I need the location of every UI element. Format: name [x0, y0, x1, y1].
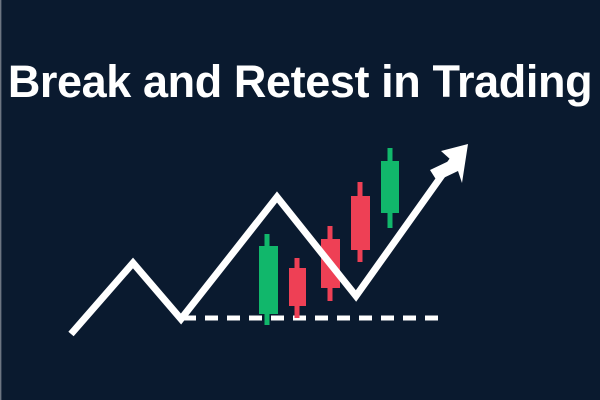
candle-2-bearish — [289, 258, 306, 318]
candle-5-bullish — [381, 148, 399, 228]
candle-2-body — [289, 268, 306, 306]
candle-1-bullish — [259, 234, 278, 325]
candle-5-body — [381, 161, 399, 213]
candle-1-body — [259, 246, 278, 314]
candlestick-chart-illustration — [0, 0, 600, 400]
infographic-canvas: Break and Retest in Trading — [0, 0, 600, 400]
candle-4-bearish — [351, 182, 370, 262]
candle-4-body — [351, 196, 370, 250]
trend-arrow-icon — [430, 144, 468, 183]
